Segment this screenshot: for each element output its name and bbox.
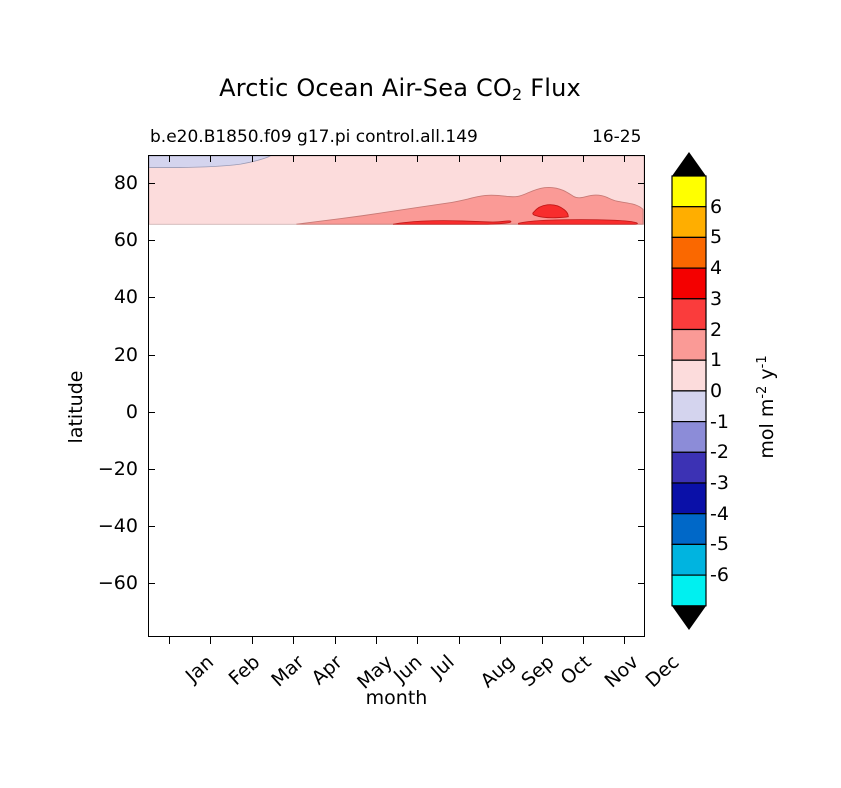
cbar-unit-main: mol m [756,399,778,459]
xtick-label-dec: Dec [641,651,683,692]
ytick-mark-right-80 [638,183,645,184]
xtick-mark-top-oct [542,155,543,162]
ytick-mark-20 [148,355,155,356]
colorbar-band-neg2-neg1 [672,422,706,453]
colorbar-extend-bottom-icon [672,606,706,630]
colorbar-band-1-2 [672,330,706,361]
xtick-label-feb: Feb [225,651,265,690]
xtick-mark-top-jun [376,155,377,162]
subtitle-case-name: b.e20.B1850.f09 g17.pi control.all.149 [150,127,478,147]
xtick-mark-top-may [335,155,336,162]
xtick-mark-top-feb [210,155,211,162]
contour-plot [149,156,644,636]
xtick-mark-dec [624,637,625,644]
colorbar-tick-neg5: -5 [710,533,729,555]
xtick-mark-aug [459,637,460,644]
ytick-mark-neg60 [148,583,155,584]
colorbar-band-5-6 [672,207,706,238]
colorbar-band-neg5-neg4 [672,514,706,545]
ytick-mark-right-neg40 [638,526,645,527]
ytick-mark-right-0 [638,412,645,413]
xtick-mark-top-jan [169,155,170,162]
ytick-mark-right-40 [638,297,645,298]
ytick-label-neg40: −40 [98,515,138,537]
colorbar-tick-3: 3 [710,288,722,310]
ytick-mark-60 [148,240,155,241]
colorbar-tick-neg3: -3 [710,472,729,494]
y-axis-tick-labels: 80 60 40 20 0 −20 −40 −60 [85,155,138,637]
colorbar-swatches [671,152,707,642]
y-axis-label: latitude [65,327,87,487]
x-axis-label: month [148,687,645,709]
colorbar-band-neg6-neg5 [672,544,706,575]
cbar-unit-sup1: -2 [755,386,770,399]
colorbar-band-neg1-0 [672,391,706,422]
ytick-mark-neg40 [148,526,155,527]
ytick-label-40: 40 [114,286,138,308]
ytick-label-0: 0 [126,401,138,423]
xtick-mark-sep [500,637,501,644]
xtick-label-mar: Mar [267,651,308,691]
title-tail: Flux [522,74,581,102]
colorbar-band-3-4 [672,268,706,299]
xtick-label-jul: Jul [427,651,459,683]
ytick-label-neg60: −60 [98,572,138,594]
xtick-label-jan: Jan [182,651,218,687]
xtick-mark-nov [583,637,584,644]
colorbar-unit-label: mol m-2 y-1 [756,312,778,502]
subtitle-year-range: 16-25 [592,127,641,147]
plot-area [148,155,645,637]
xtick-mark-jan [169,637,170,644]
colorbar-band-0-1 [672,360,706,391]
ytick-mark-0 [148,412,155,413]
colorbar-tick-0: 0 [710,380,722,402]
ytick-mark-right-20 [638,355,645,356]
xtick-mark-top-aug [459,155,460,162]
xtick-label-nov: Nov [601,651,643,692]
xtick-mark-top-nov [583,155,584,162]
xtick-mark-jun [376,637,377,644]
colorbar-band-neg7-neg6 [672,575,706,606]
ytick-label-20: 20 [114,344,138,366]
ytick-mark-right-neg60 [638,583,645,584]
xtick-label-aug: Aug [477,651,519,692]
ytick-label-60: 60 [114,229,138,251]
colorbar-band-4-5 [672,237,706,268]
xtick-label-apr: Apr [307,651,346,689]
ytick-mark-right-neg20 [638,469,645,470]
title-subscript: 2 [512,85,522,104]
colorbar-band-neg3-neg2 [672,452,706,483]
figure-canvas: Arctic Ocean Air-Sea CO2 Flux b.e20.B185… [0,0,841,788]
xtick-label-oct: Oct [556,651,595,689]
colorbar-tick-neg2: -2 [710,441,729,463]
xtick-mark-oct [542,637,543,644]
xtick-mark-top-jul [417,155,418,162]
ytick-label-80: 80 [114,172,138,194]
xtick-mark-mar [252,637,253,644]
colorbar-tick-2: 2 [710,319,722,341]
colorbar-extend-top-icon [672,152,706,176]
xtick-label-sep: Sep [517,651,558,691]
xtick-mark-jul [417,637,418,644]
xtick-label-jun: Jun [390,651,427,687]
xtick-mark-may [335,637,336,644]
colorbar-band-6-7 [672,176,706,207]
ytick-mark-80 [148,183,155,184]
cbar-unit-mid: y [756,368,778,385]
xtick-mark-top-mar [252,155,253,162]
colorbar-tick-6: 6 [710,196,722,218]
ytick-mark-right-60 [638,240,645,241]
ytick-mark-40 [148,297,155,298]
xtick-mark-top-dec [624,155,625,162]
colorbar-tick-neg4: -4 [710,503,729,525]
xtick-mark-top-apr [293,155,294,162]
xtick-mark-feb [210,637,211,644]
colorbar-tick-5: 5 [710,226,722,248]
page-title: Arctic Ocean Air-Sea CO2 Flux [0,74,800,102]
colorbar-tick-labels: 6 5 4 3 2 1 0 -1 -2 -3 -4 -5 -6 [710,152,750,642]
colorbar-tick-neg6: -6 [710,564,729,586]
xtick-mark-apr [293,637,294,644]
colorbar-tick-1: 1 [710,349,722,371]
colorbar [671,152,707,642]
cbar-unit-sup2: -1 [755,355,770,368]
colorbar-tick-4: 4 [710,257,722,279]
title-main: Arctic Ocean Air-Sea CO [219,74,512,102]
colorbar-tick-neg1: -1 [710,411,729,433]
ytick-label-neg20: −20 [98,458,138,480]
colorbar-band-neg4-neg3 [672,483,706,514]
xtick-mark-top-sep [500,155,501,162]
colorbar-band-2-3 [672,299,706,330]
ytick-mark-neg20 [148,469,155,470]
